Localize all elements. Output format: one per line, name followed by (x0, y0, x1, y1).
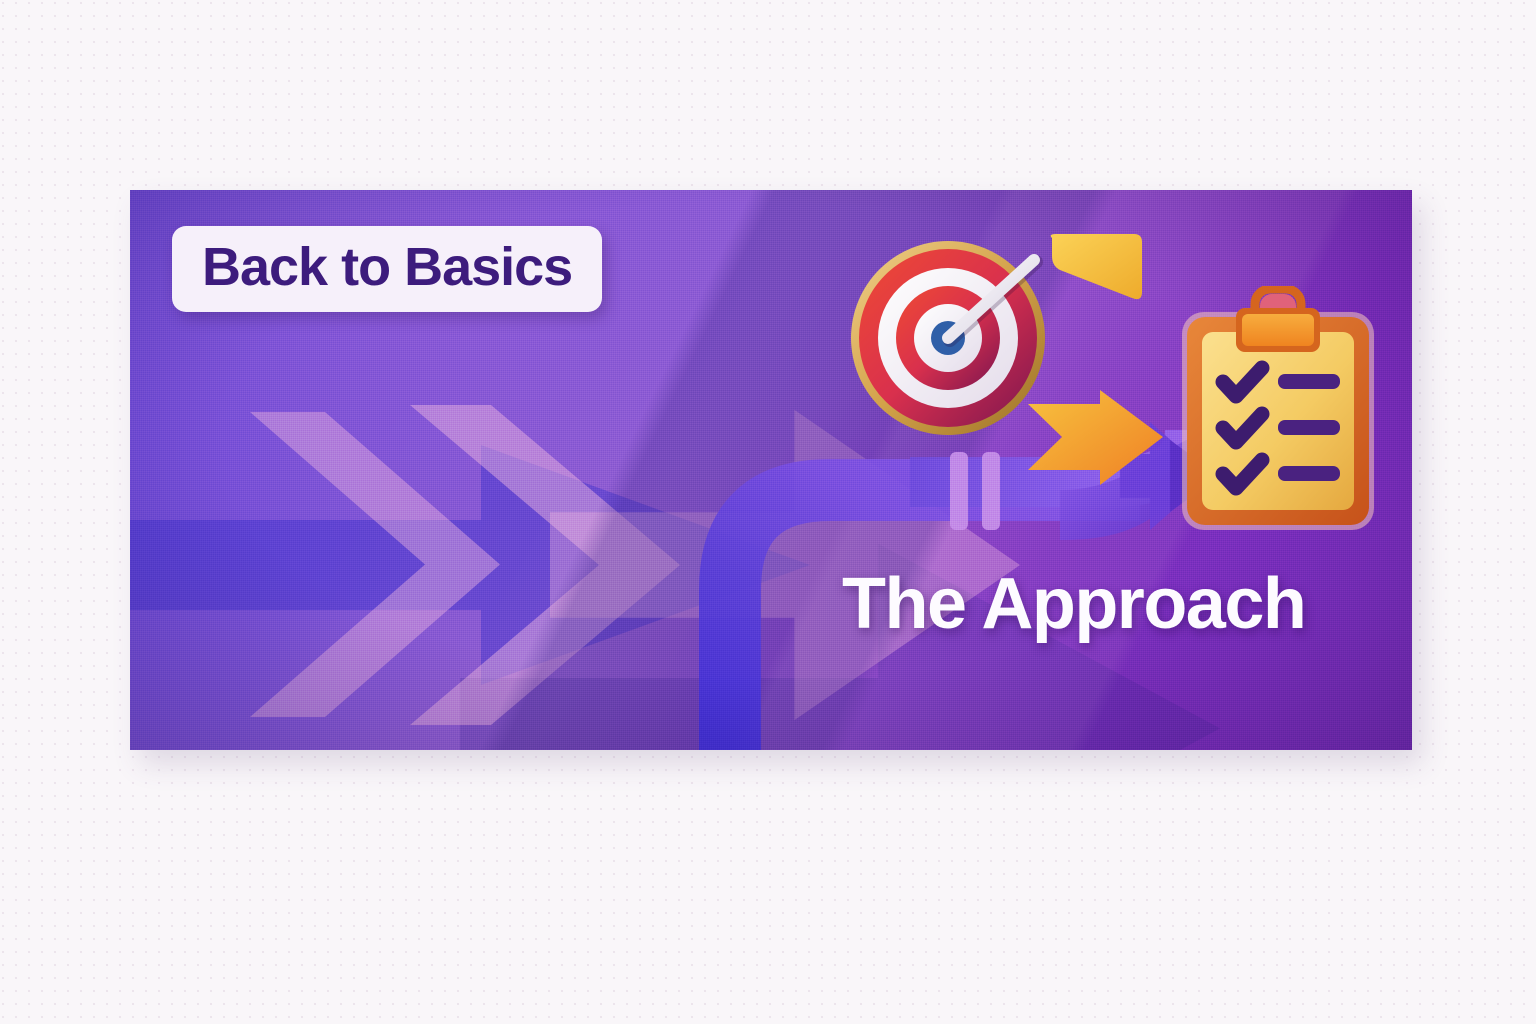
page-title: The Approach (842, 568, 1305, 640)
orange-chevron-icon (1028, 390, 1163, 485)
target-bullseye-icon (848, 238, 1048, 438)
arrow-fletching-icon (1030, 230, 1160, 360)
clipboard-checklist-icon (1178, 286, 1378, 534)
back-to-basics-badge: Back to Basics (172, 226, 602, 312)
banner-card: Back to Basics The Approach (130, 190, 1412, 750)
badge-label: Back to Basics (202, 240, 572, 294)
